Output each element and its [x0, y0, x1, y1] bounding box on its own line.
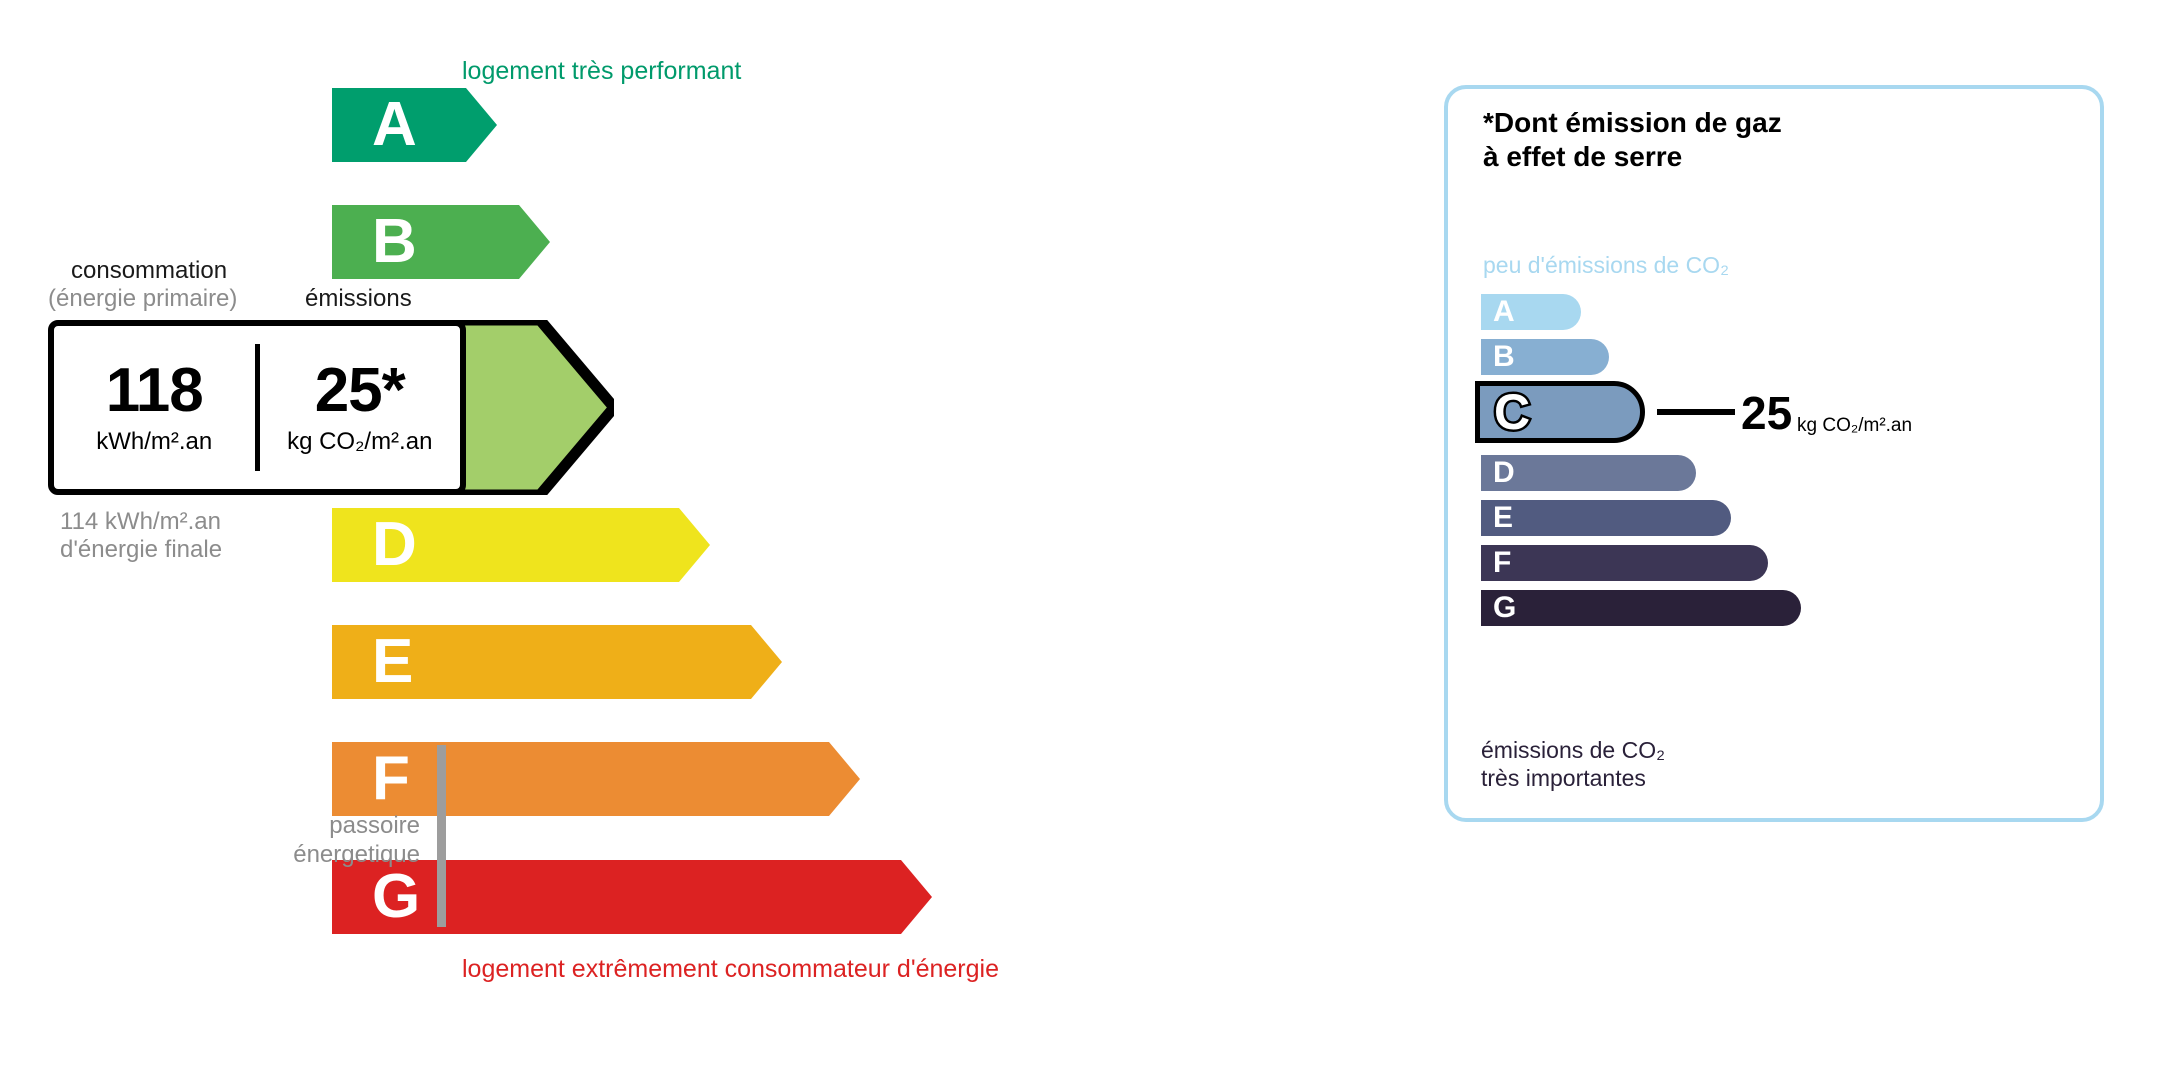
co2-bar-a: A [1481, 294, 1581, 330]
co2-bar-g: G [1481, 590, 1801, 626]
co2-panel-title: *Dont émission de gaz à effet de serre [1483, 106, 1782, 174]
final-energy-note: 114 kWh/m².an d'énergie finale [60, 508, 222, 563]
energy-bar-shape-b [332, 205, 550, 279]
emissions-value: 25* [315, 360, 405, 422]
co2-panel: *Dont émission de gaz à effet de serre p… [1444, 85, 2104, 822]
energy-bar-shape-f [332, 742, 860, 816]
consumption-value: 118 [106, 360, 203, 422]
energy-bar-shape-g [332, 860, 932, 934]
co2-bar-letter-f: F [1493, 548, 1511, 578]
energy-bar-letter-g: G [372, 866, 420, 928]
energy-bar-letter-e: E [372, 631, 413, 693]
co2-bar-d: D [1481, 455, 1696, 491]
emissions-unit: kg CO₂/m².an [287, 428, 432, 456]
co2-callout-unit: kg CO₂/m².an [1797, 415, 1912, 437]
co2-bar-c: C [1475, 381, 1645, 443]
passoire-label: passoire énergetique [150, 812, 420, 870]
energy-ladder: logement très performant A B C D E F G c… [0, 0, 1360, 1079]
co2-bottom-line2: très importantes [1481, 765, 1665, 793]
co2-top-label: peu d'émissions de CO₂ [1483, 252, 1729, 279]
values-box: 118 kWh/m².an 25* kg CO₂/m².an [48, 320, 466, 495]
passoire-marker-bar [437, 745, 446, 927]
co2-bottom-label: émissions de CO₂ très importantes [1481, 737, 1665, 792]
co2-callout-connector [1657, 409, 1735, 415]
energy-bar-d: D [332, 508, 710, 582]
energy-bar-a: A [332, 88, 497, 162]
co2-bottom-line1: émissions de CO₂ [1481, 737, 1665, 765]
energy-bar-g: G [332, 860, 932, 934]
energy-bar-letter-d: D [372, 514, 417, 576]
co2-callout-value: 25 [1741, 390, 1792, 436]
passoire-line1: passoire [150, 812, 420, 841]
final-energy-value: 114 kWh/m².an [60, 508, 222, 536]
co2-bar-letter-e: E [1493, 503, 1513, 533]
co2-bar-letter-a: A [1493, 297, 1515, 327]
energy-bar-letter-b: B [372, 211, 417, 273]
dpe-diagram: logement très performant A B C D E F G c… [0, 0, 2169, 1079]
energy-bar-b: B [332, 205, 550, 279]
co2-title-line2: à effet de serre [1483, 140, 1782, 174]
consumption-subheader: (énergie primaire) [48, 285, 237, 313]
co2-bar-e: E [1481, 500, 1731, 536]
top-performance-note: logement très performant [462, 57, 741, 86]
energy-bar-e: E [332, 625, 782, 699]
energy-bar-f: F [332, 742, 860, 816]
final-energy-label: d'énergie finale [60, 536, 222, 564]
co2-bar-f: F [1481, 545, 1768, 581]
energy-bar-letter-a: A [372, 94, 417, 156]
co2-bar-letter-b: B [1493, 342, 1515, 372]
co2-bar-letter-d: D [1493, 458, 1515, 488]
consumption-cell: 118 kWh/m².an [54, 326, 255, 489]
co2-title-line1: *Dont émission de gaz [1483, 106, 1782, 140]
emissions-cell: 25* kg CO₂/m².an [260, 326, 461, 489]
consumption-unit: kWh/m².an [96, 428, 212, 456]
co2-bar-letter-g: G [1493, 593, 1516, 623]
co2-bar-letter-c: C [1494, 387, 1530, 437]
energy-bar-letter-f: F [372, 748, 410, 810]
bottom-performance-note: logement extrêmement consommateur d'éner… [462, 955, 999, 984]
consumption-header: consommation [71, 257, 227, 285]
co2-bar-b: B [1481, 339, 1609, 375]
emissions-header: émissions [305, 285, 412, 313]
